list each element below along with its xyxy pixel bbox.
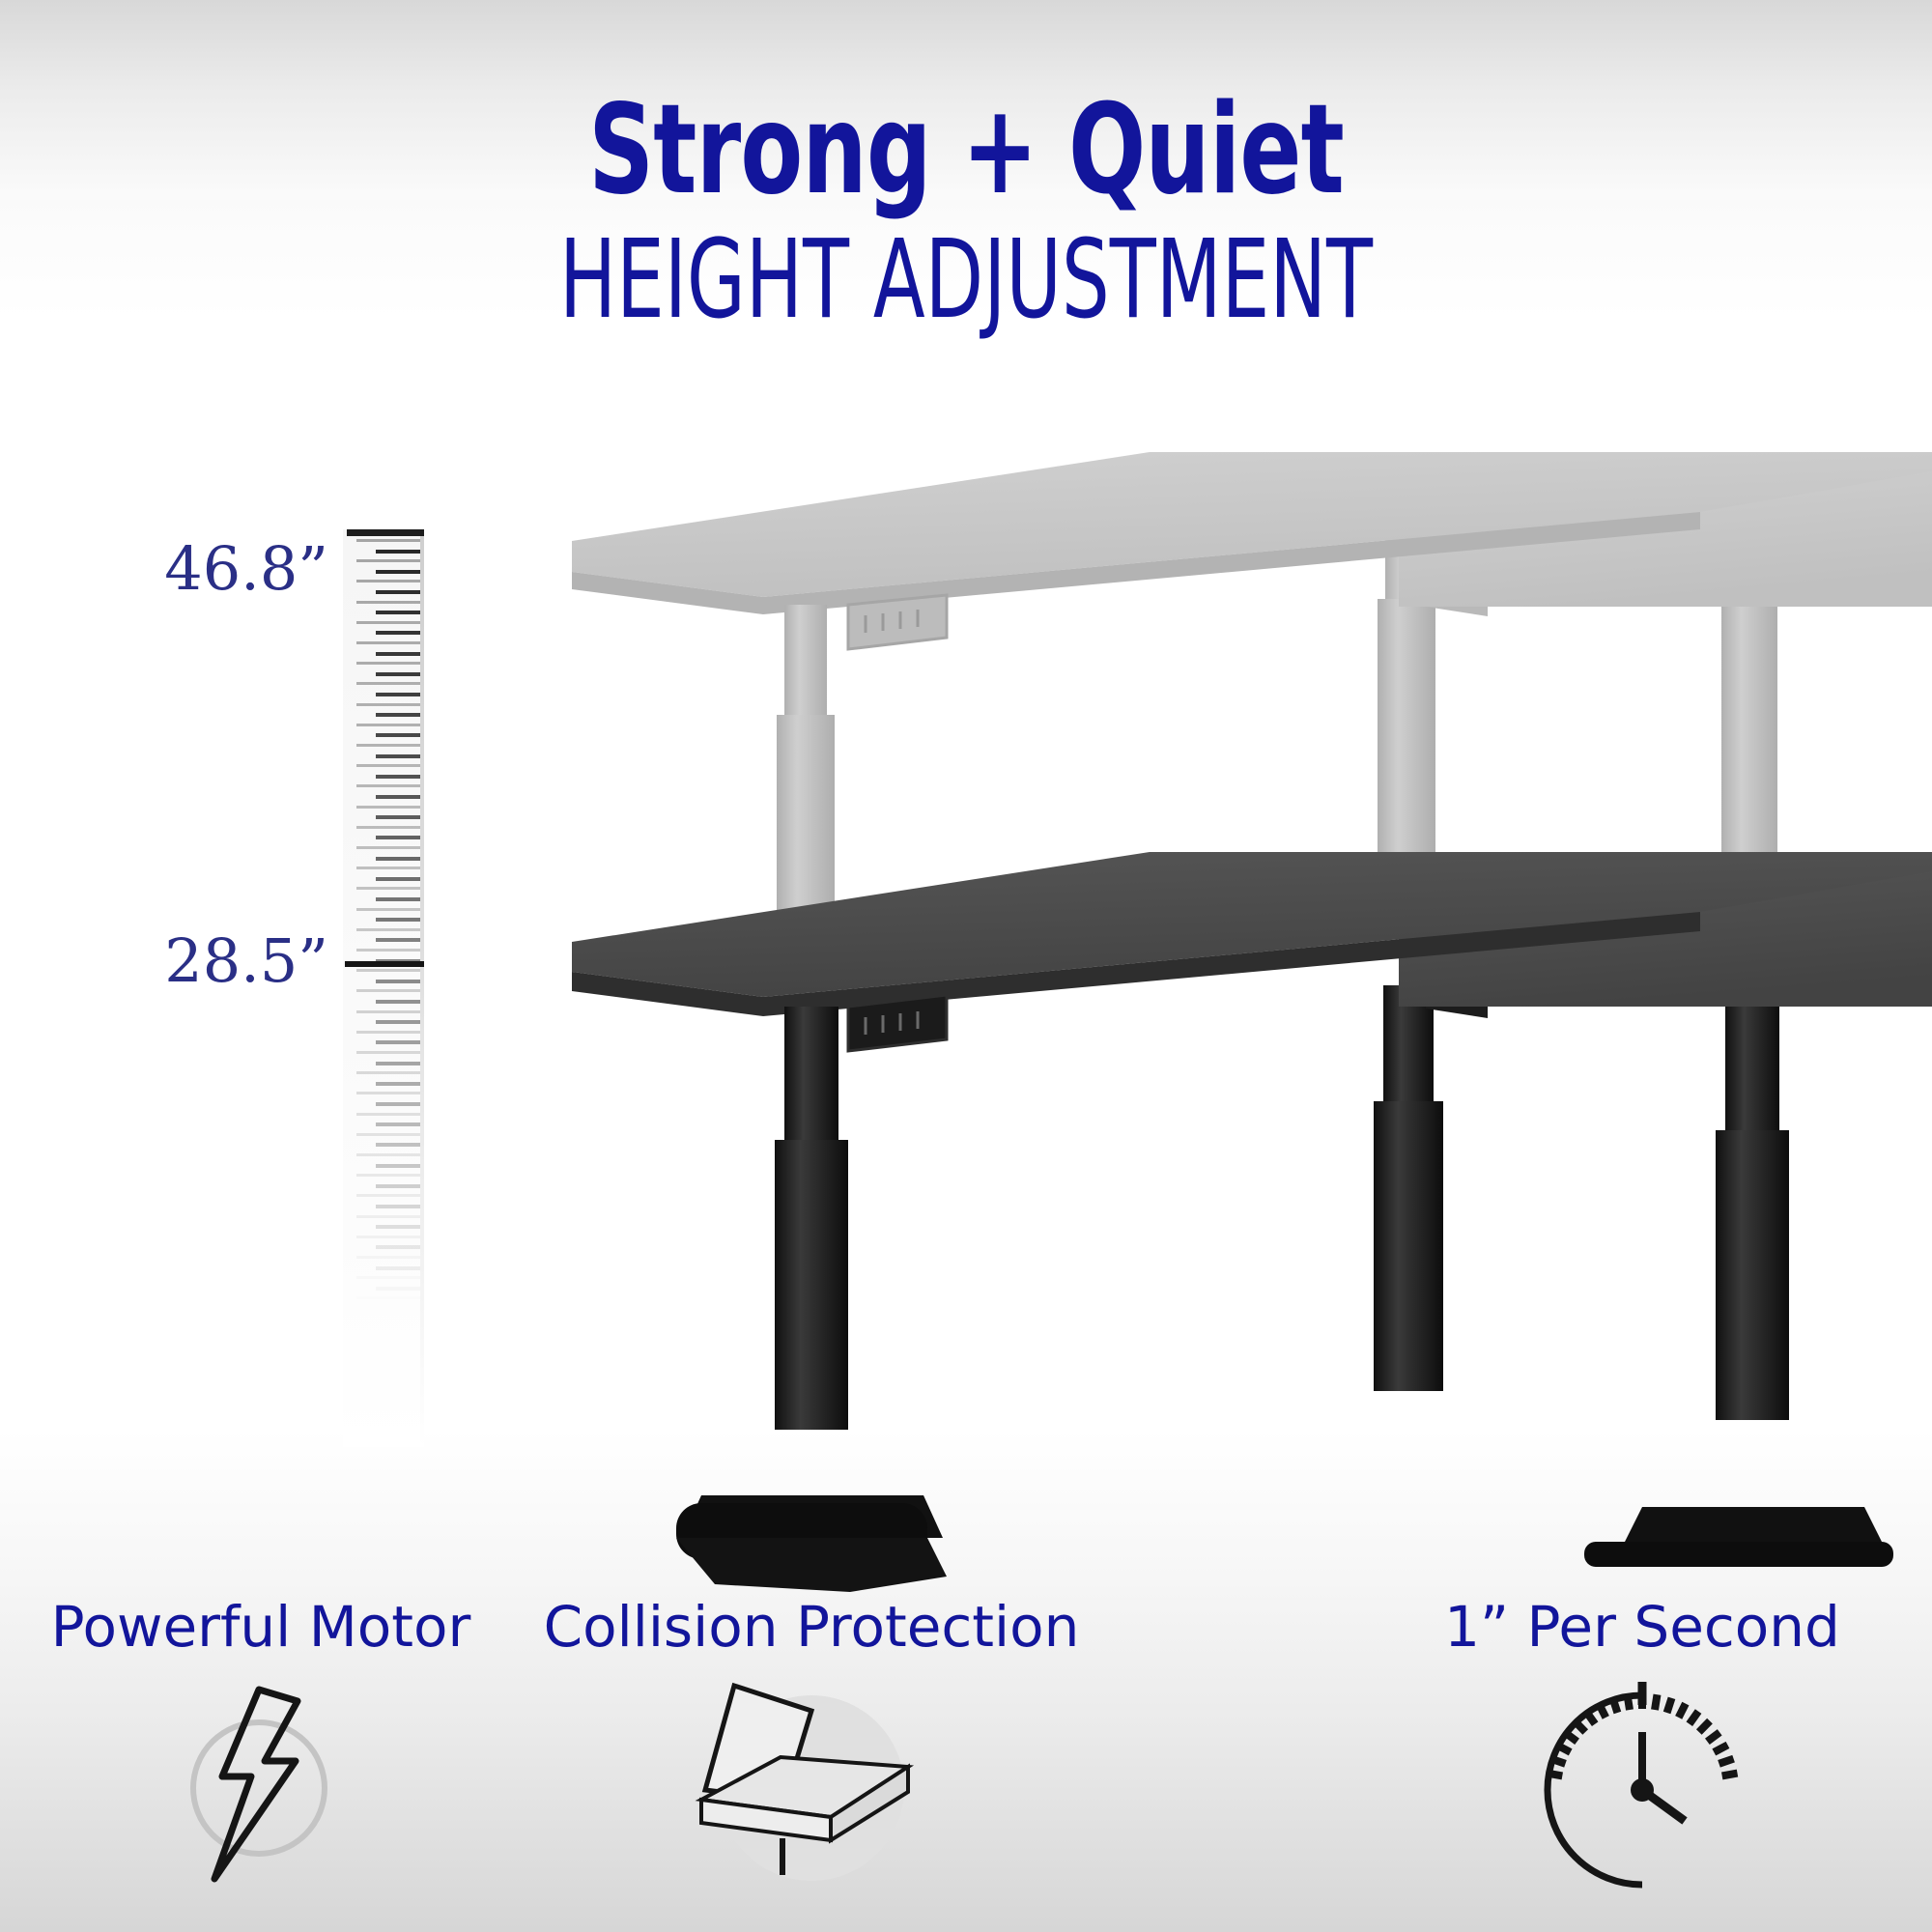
clock-tick <box>1628 1694 1631 1710</box>
clock-icon <box>1372 1674 1913 1906</box>
clock-tick <box>1699 1721 1710 1732</box>
lowered-desk-leg-corner <box>1374 985 1443 1391</box>
clock-tick <box>1548 1774 1563 1776</box>
collision-desk-icon <box>512 1674 1111 1906</box>
feature-speed: 1” Per Second <box>1372 1599 1913 1906</box>
infographic-canvas: Strong + Quiet HEIGHT ADJUSTMENT 46.8” 2… <box>0 0 1932 1932</box>
clock-tick <box>1719 1759 1734 1764</box>
lightning-bolt-icon <box>19 1674 502 1906</box>
clock-tick <box>1655 1694 1658 1710</box>
clock-tick <box>1575 1721 1585 1732</box>
lowered-desk <box>572 852 1932 1592</box>
clock-tick <box>1613 1698 1618 1713</box>
clock-tick <box>1707 1732 1719 1742</box>
lowered-desk-leg-right-rear <box>1584 1005 1893 1567</box>
clock-tick <box>1667 1698 1672 1713</box>
clock-tick <box>1690 1712 1698 1724</box>
clock-tick <box>1586 1712 1595 1724</box>
lowered-desk-leg-left <box>676 1007 947 1592</box>
feature-label: 1” Per Second <box>1372 1599 1913 1655</box>
height-control-keypad-dark[interactable] <box>848 995 947 1051</box>
clock-tick <box>1722 1774 1738 1776</box>
clock-tick <box>1714 1745 1727 1752</box>
clock-tick <box>1565 1732 1577 1742</box>
clock-tick <box>1550 1759 1565 1764</box>
feature-label: Collision Protection <box>512 1599 1111 1655</box>
height-control-keypad-light[interactable] <box>848 595 947 649</box>
feature-collision-protection: Collision Protection <box>512 1599 1111 1906</box>
feature-powerful-motor: Powerful Motor <box>19 1599 502 1906</box>
feature-label: Powerful Motor <box>19 1599 502 1655</box>
clock-tick <box>1679 1704 1686 1718</box>
